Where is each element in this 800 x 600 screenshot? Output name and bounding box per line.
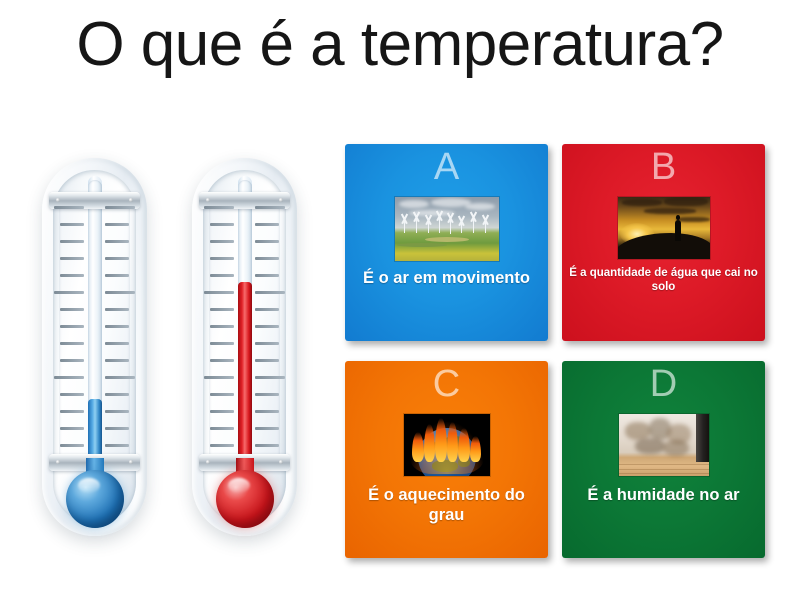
- scale-tick: [210, 359, 234, 362]
- scale-tick: [210, 257, 234, 260]
- scale-tick: [60, 257, 84, 260]
- screw-icon: [206, 460, 210, 464]
- screw-icon: [206, 198, 210, 202]
- answer-letter-b: B: [562, 146, 765, 190]
- scale-tick: [255, 427, 279, 430]
- hot-thermometer-icon: [192, 158, 297, 536]
- scale-tick: [210, 393, 234, 396]
- scale-tick: [105, 393, 129, 396]
- thermometer-liquid-column: [238, 282, 252, 480]
- scale-tick: [210, 308, 234, 311]
- scale-tick: [105, 444, 129, 447]
- scale-tick: [210, 325, 234, 328]
- scale-tick: [255, 206, 285, 209]
- scale-tick: [105, 325, 129, 328]
- scale-tick: [60, 444, 84, 447]
- scale-tick: [60, 393, 84, 396]
- page-title: O que é a temperatura?: [0, 12, 800, 77]
- bulb-highlight: [78, 478, 100, 493]
- scale-tick: [210, 223, 234, 226]
- answer-options-grid: A É o ar em movimento B: [345, 144, 765, 558]
- scale-tick: [210, 410, 234, 413]
- scale-tick: [105, 427, 129, 430]
- scale-tick: [60, 223, 84, 226]
- scale-tick: [255, 376, 285, 379]
- scale-tick: [210, 342, 234, 345]
- scale-tick: [105, 410, 129, 413]
- sunset-silhouette-image: [617, 196, 711, 260]
- scale-tick: [255, 393, 279, 396]
- scale-tick: [105, 291, 135, 294]
- answer-card-c[interactable]: C É o aquecimento do grau: [345, 361, 548, 558]
- answer-letter-d: D: [562, 363, 765, 407]
- scale-tick: [105, 359, 129, 362]
- scale-tick: [255, 223, 279, 226]
- scale-tick: [210, 444, 234, 447]
- answer-letter-a: A: [345, 146, 548, 190]
- mold-wall-image: [618, 413, 710, 477]
- scale-tick: [60, 410, 84, 413]
- scale-tick: [105, 274, 129, 277]
- scale-tick: [255, 291, 285, 294]
- bulb-highlight: [228, 478, 250, 493]
- scale-tick: [204, 376, 234, 379]
- screw-icon: [129, 460, 133, 464]
- wind-turbines-image: [394, 196, 500, 262]
- scale-tick: [54, 206, 84, 209]
- scale-tick: [255, 359, 279, 362]
- scale-tick: [60, 342, 84, 345]
- scale-tick: [54, 376, 84, 379]
- scale-tick: [60, 427, 84, 430]
- scale-tick: [210, 427, 234, 430]
- scale-tick: [210, 240, 234, 243]
- scale-tick: [105, 257, 129, 260]
- scale-tick: [255, 410, 279, 413]
- scale-tick: [105, 206, 135, 209]
- thermometer-bulb: [66, 470, 124, 528]
- answer-card-d[interactable]: D É a humidade no ar: [562, 361, 765, 558]
- scale-tick: [60, 308, 84, 311]
- screw-icon: [279, 460, 283, 464]
- answer-letter-c: C: [345, 363, 548, 407]
- thermometer-tube: [238, 180, 252, 480]
- burning-earth-image: [403, 413, 491, 477]
- thermometer-tube: [88, 180, 102, 480]
- scale-tick: [105, 223, 129, 226]
- screw-icon: [129, 198, 133, 202]
- thermometer-illustration: [20, 140, 330, 560]
- answer-text-c: É o aquecimento do grau: [351, 485, 542, 525]
- scale-tick: [204, 291, 234, 294]
- scale-tick: [105, 342, 129, 345]
- screw-icon: [279, 198, 283, 202]
- answer-text-d: É a humidade no ar: [568, 485, 759, 505]
- scale-tick: [255, 274, 279, 277]
- scale-tick: [105, 240, 129, 243]
- screw-icon: [56, 460, 60, 464]
- answer-text-a: É o ar em movimento: [351, 268, 542, 288]
- thermometer-bulb: [216, 470, 274, 528]
- cold-thermometer-icon: [42, 158, 147, 536]
- scale-tick: [204, 206, 234, 209]
- scale-tick: [105, 308, 129, 311]
- answer-card-a[interactable]: A É o ar em movimento: [345, 144, 548, 341]
- scale-tick: [60, 240, 84, 243]
- scale-tick: [60, 274, 84, 277]
- scale-tick: [255, 325, 279, 328]
- scale-tick: [255, 342, 279, 345]
- answer-text-b: É a quantidade de água que cai no solo: [568, 266, 759, 294]
- answer-card-b[interactable]: B É a quantidade de água que cai no solo: [562, 144, 765, 341]
- scale-tick: [255, 257, 279, 260]
- scale-tick: [60, 359, 84, 362]
- scale-tick: [255, 308, 279, 311]
- scale-tick: [54, 291, 84, 294]
- scale-tick: [255, 240, 279, 243]
- scale-tick: [210, 274, 234, 277]
- scale-tick: [60, 325, 84, 328]
- scale-tick: [105, 376, 135, 379]
- scale-tick: [255, 444, 279, 447]
- screw-icon: [56, 198, 60, 202]
